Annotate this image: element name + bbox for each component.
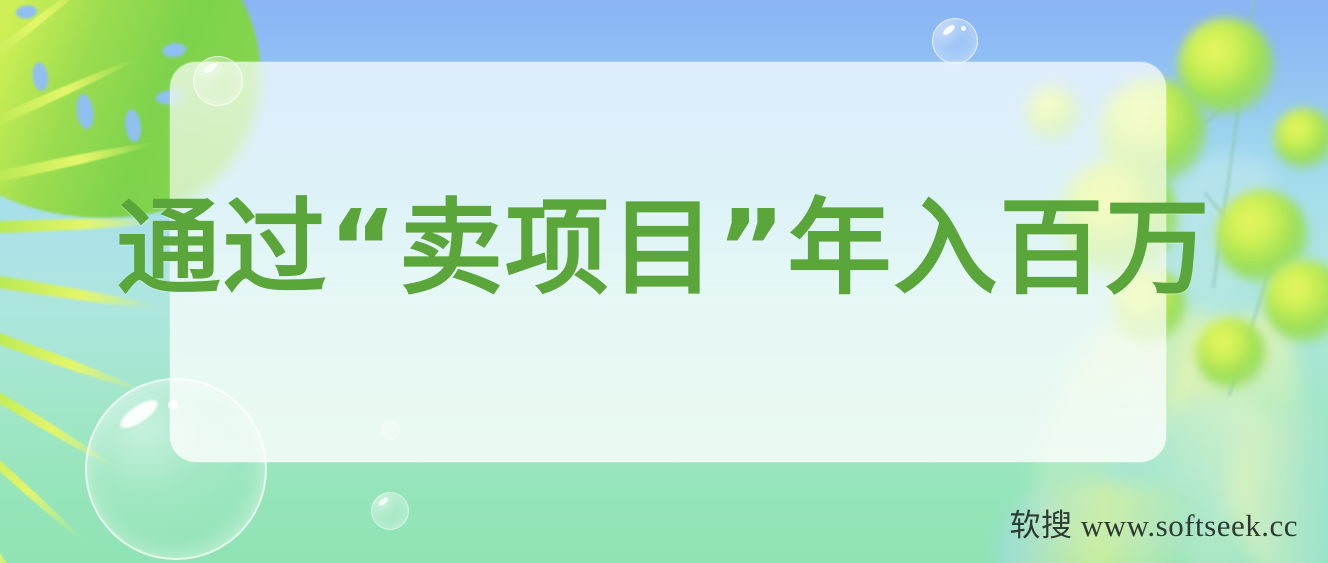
bubble-highlight <box>942 23 957 36</box>
mimosa-flower-icon <box>1274 108 1328 168</box>
bubble-highlight <box>961 26 966 31</box>
mimosa-flower-icon <box>1196 318 1266 388</box>
poster-canvas: 通过“卖项目”年入百万 软搜 www.softseek.cc <box>0 0 1328 563</box>
bubble-icon <box>371 492 409 530</box>
page-title: 通过“卖项目”年入百万 <box>0 196 1328 300</box>
bubble-icon <box>932 18 978 64</box>
bubble-highlight <box>203 61 219 75</box>
site-watermark: 软搜 www.softseek.cc <box>1010 500 1299 545</box>
bubble-icon <box>85 378 267 560</box>
bubble-icon <box>193 56 243 106</box>
bubble-icon <box>380 420 400 440</box>
bubble-highlight <box>168 400 178 410</box>
bubble-highlight <box>378 496 390 507</box>
palm-frond-icon <box>0 364 40 563</box>
bubble-highlight <box>116 395 161 433</box>
